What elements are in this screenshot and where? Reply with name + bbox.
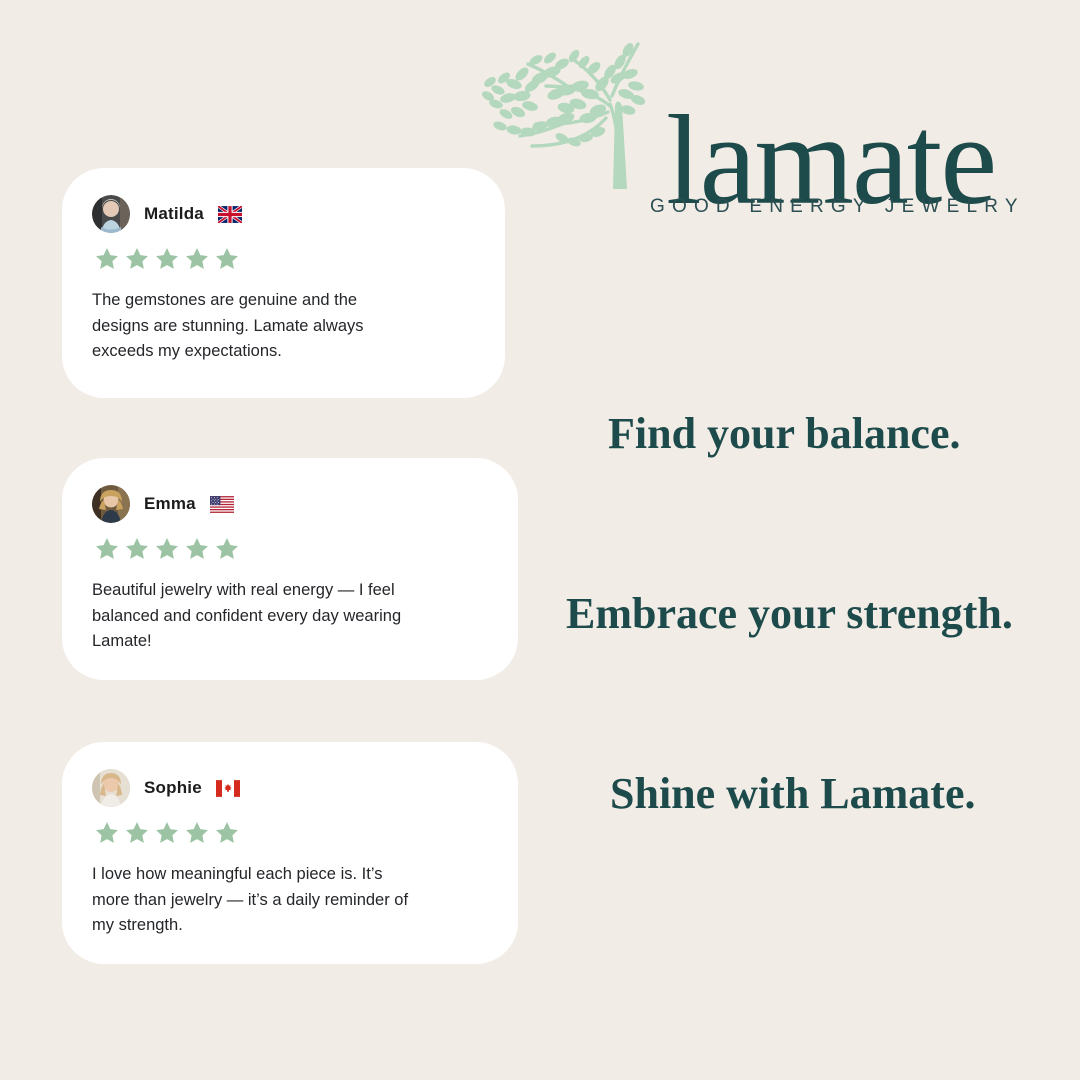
avatar [92,769,130,807]
tree-branch-icon [470,34,680,199]
star-icon [94,536,120,562]
star-icon [184,536,210,562]
review-card: Matilda The gemstones are genuine and th… [62,168,505,398]
rating-stars [94,820,488,846]
reviewer-name: Sophie [144,778,202,798]
rating-stars [94,246,475,272]
star-icon [94,246,120,272]
review-card: Emma [62,458,518,680]
review-header: Sophie [92,768,488,808]
star-icon [154,820,180,846]
star-icon [214,246,240,272]
star-icon [184,820,210,846]
reviewer-name: Emma [144,494,196,514]
review-text: I love how meaningful each piece is. It’… [92,862,488,939]
review-card: Sophie I love how meaningful each piece … [62,742,518,964]
logo-tagline: GOOD ENERGY JEWELRY [650,196,1025,218]
brand-logo: lamate GOOD ENERGY JEWELRY [470,34,1040,234]
flag-united-states-icon [210,496,234,513]
avatar [92,195,130,233]
star-icon [154,246,180,272]
star-icon [124,246,150,272]
flag-canada-icon [216,780,240,797]
headline-find-your-balance: Find your balance. [608,412,960,456]
star-icon [154,536,180,562]
star-icon [214,536,240,562]
rating-stars [94,536,488,562]
star-icon [124,536,150,562]
headline-embrace-your-strength: Embrace your strength. [566,592,1013,636]
star-icon [214,820,240,846]
review-header: Matilda [92,194,475,234]
marketing-canvas: lamate GOOD ENERGY JEWELRY [0,0,1080,1080]
headline-shine-with-lamate: Shine with Lamate. [610,772,975,816]
flag-united-kingdom-icon [218,206,242,223]
avatar [92,485,130,523]
reviewer-name: Matilda [144,204,204,224]
star-icon [124,820,150,846]
star-icon [94,820,120,846]
review-text: Beautiful jewelry with real energy — I f… [92,578,488,655]
review-text: The gemstones are genuine and the design… [92,288,475,365]
star-icon [184,246,210,272]
review-header: Emma [92,484,488,524]
